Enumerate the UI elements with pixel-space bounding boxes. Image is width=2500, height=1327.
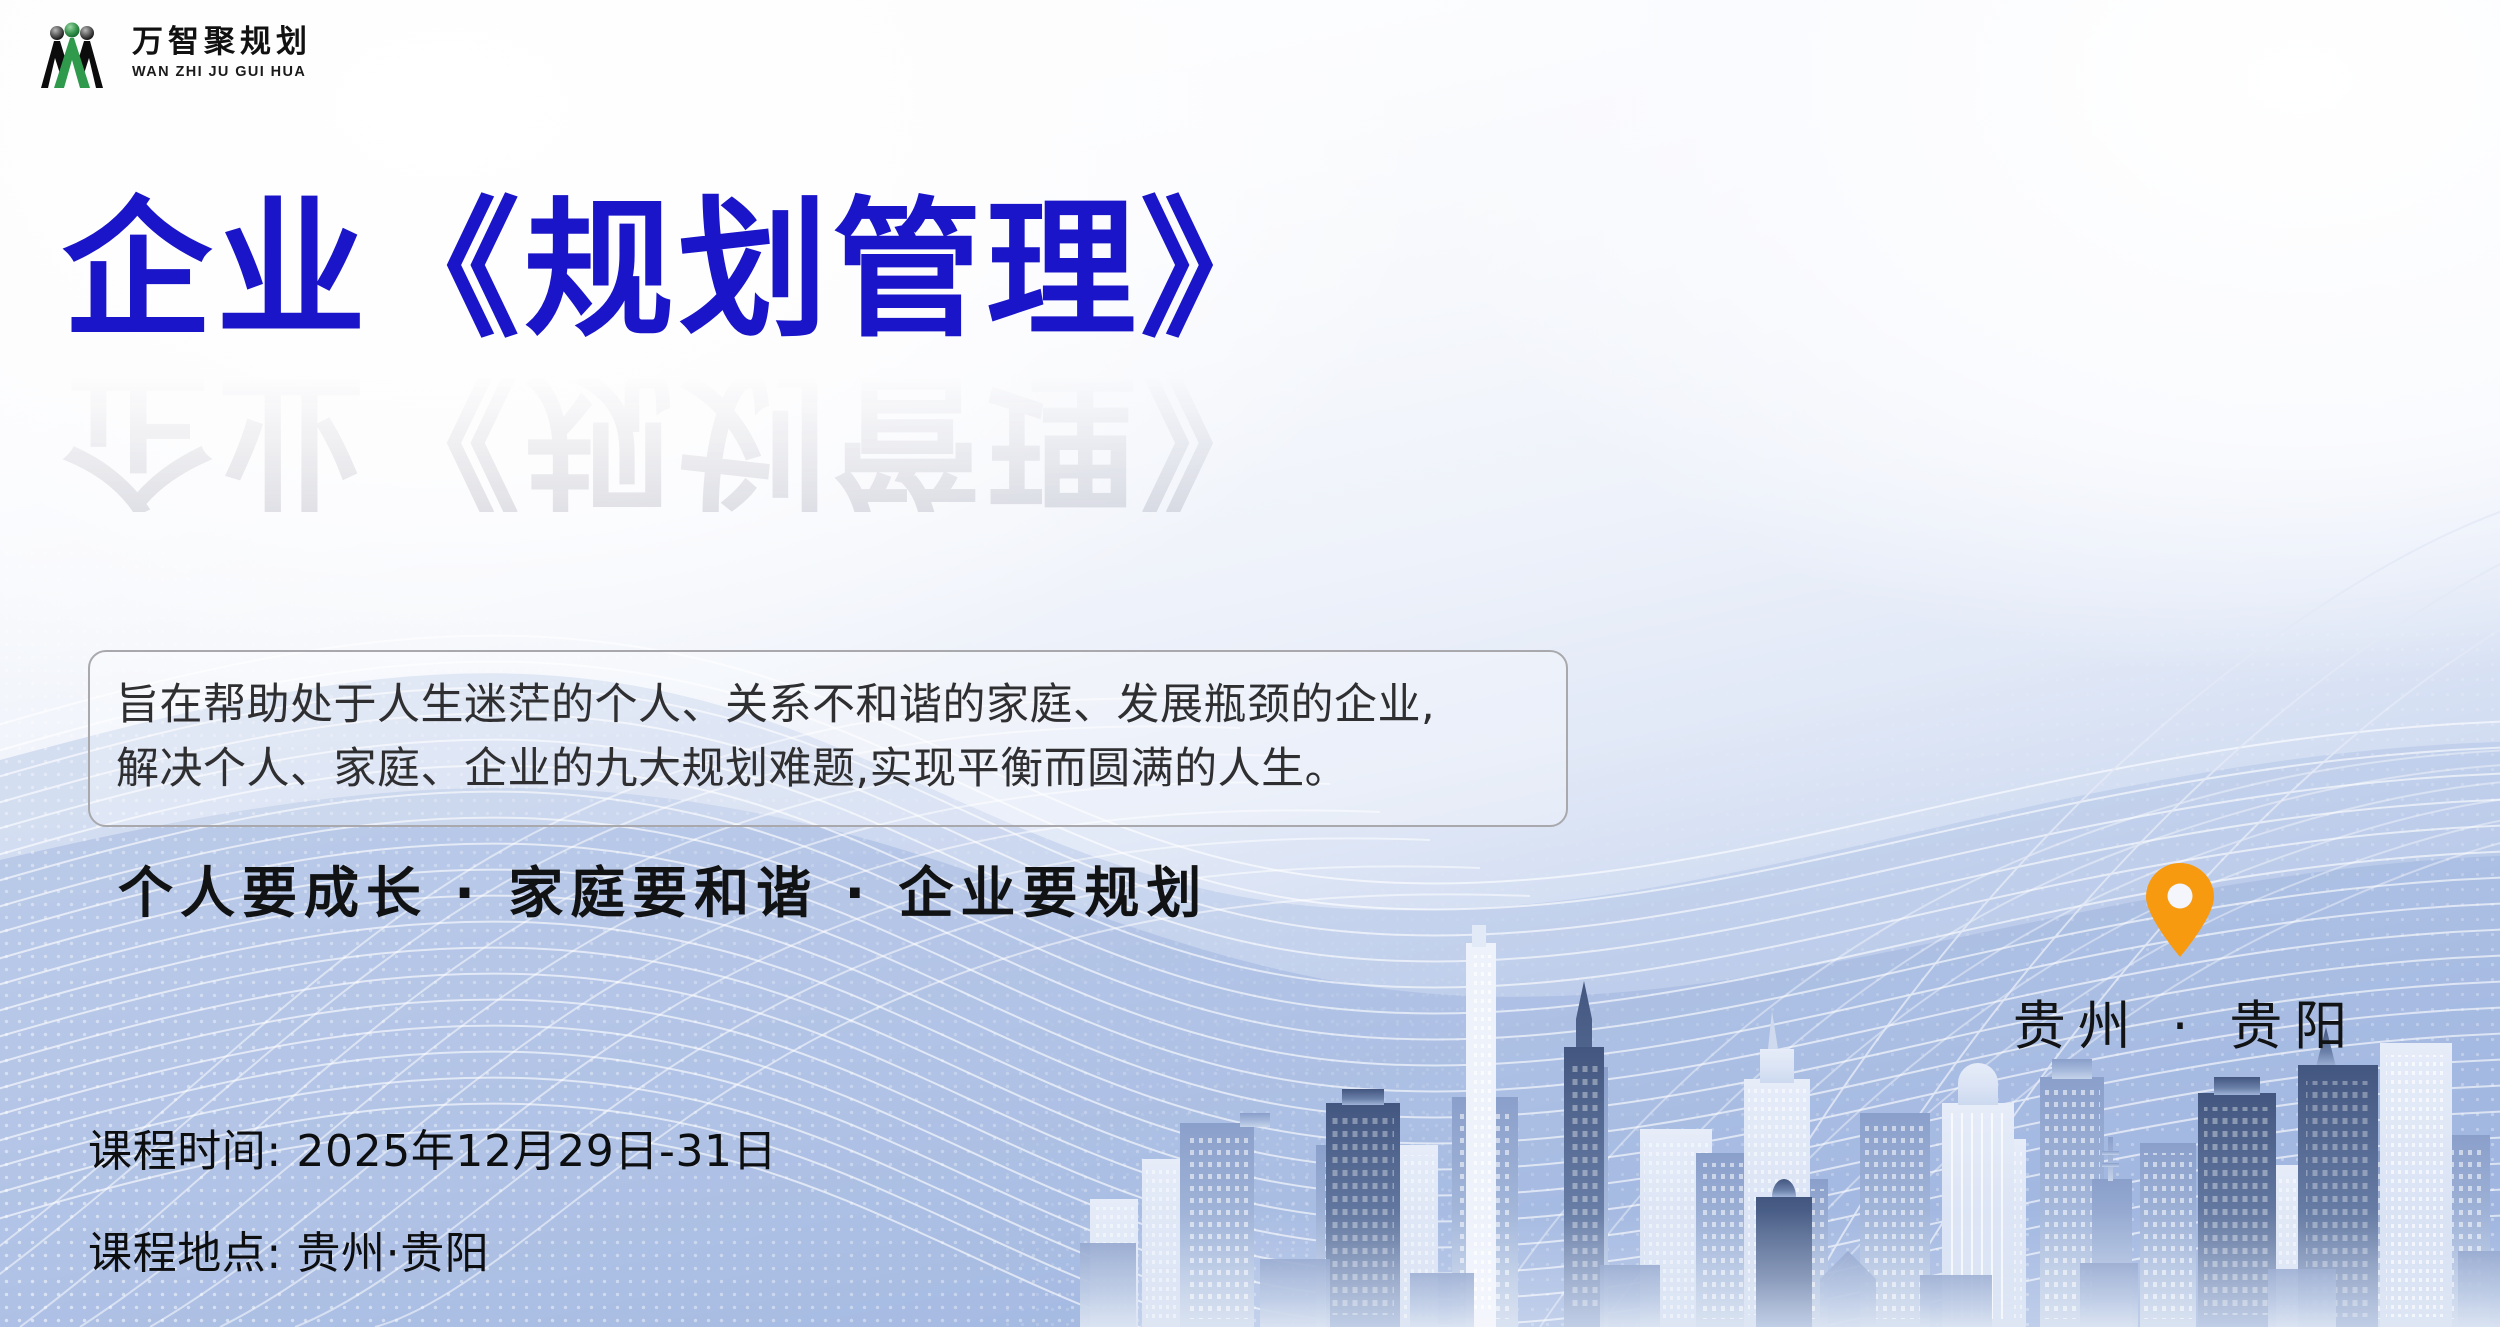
location-badge: 贵州 · 贵阳 bbox=[1990, 862, 2370, 1060]
brand-logo[interactable]: 万智聚规划 WAN ZHI JU GUI HUA bbox=[30, 16, 312, 90]
page-title-reflection: 企业《规划管理》 bbox=[62, 362, 1294, 512]
location-city-label: 贵州 · 贵阳 bbox=[2001, 984, 2360, 1060]
description-box: 旨在帮助处于人生迷茫的个人、关系不和谐的家庭、发展瓶颈的企业, 解决个人、家庭、… bbox=[88, 650, 1568, 827]
course-info-block: 课程时间: 2025年12月29日-31日 课程地点: 贵州·贵阳 bbox=[88, 1115, 777, 1281]
three-people-mountain-logo-icon bbox=[30, 16, 114, 90]
brand-name-cn: 万智聚规划 bbox=[132, 27, 312, 58]
hero-title-block: 企业《规划管理》 企业《规划管理》 bbox=[62, 196, 1562, 526]
course-time-row: 课程时间: 2025年12月29日-31日 bbox=[88, 1115, 777, 1179]
poster-canvas: 万智聚规划 WAN ZHI JU GUI HUA 企业《规划管理》 企业《规划管… bbox=[0, 0, 2500, 1327]
brand-wordmark: 万智聚规划 WAN ZHI JU GUI HUA bbox=[132, 27, 312, 80]
description-line-2: 解决个人、家庭、企业的九大规划难题,实现平衡而圆满的人生。 bbox=[116, 738, 1540, 802]
description-line-1: 旨在帮助处于人生迷茫的个人、关系不和谐的家庭、发展瓶颈的企业, bbox=[116, 674, 1540, 738]
map-pin-icon bbox=[2143, 862, 2217, 958]
brand-name-en: WAN ZHI JU GUI HUA bbox=[132, 65, 312, 80]
page-title: 企业《规划管理》 bbox=[62, 196, 1294, 346]
slogan-text: 个人要成长 · 家庭要和谐 · 企业要规划 bbox=[118, 848, 1208, 928]
course-place-row: 课程地点: 贵州·贵阳 bbox=[88, 1217, 777, 1281]
